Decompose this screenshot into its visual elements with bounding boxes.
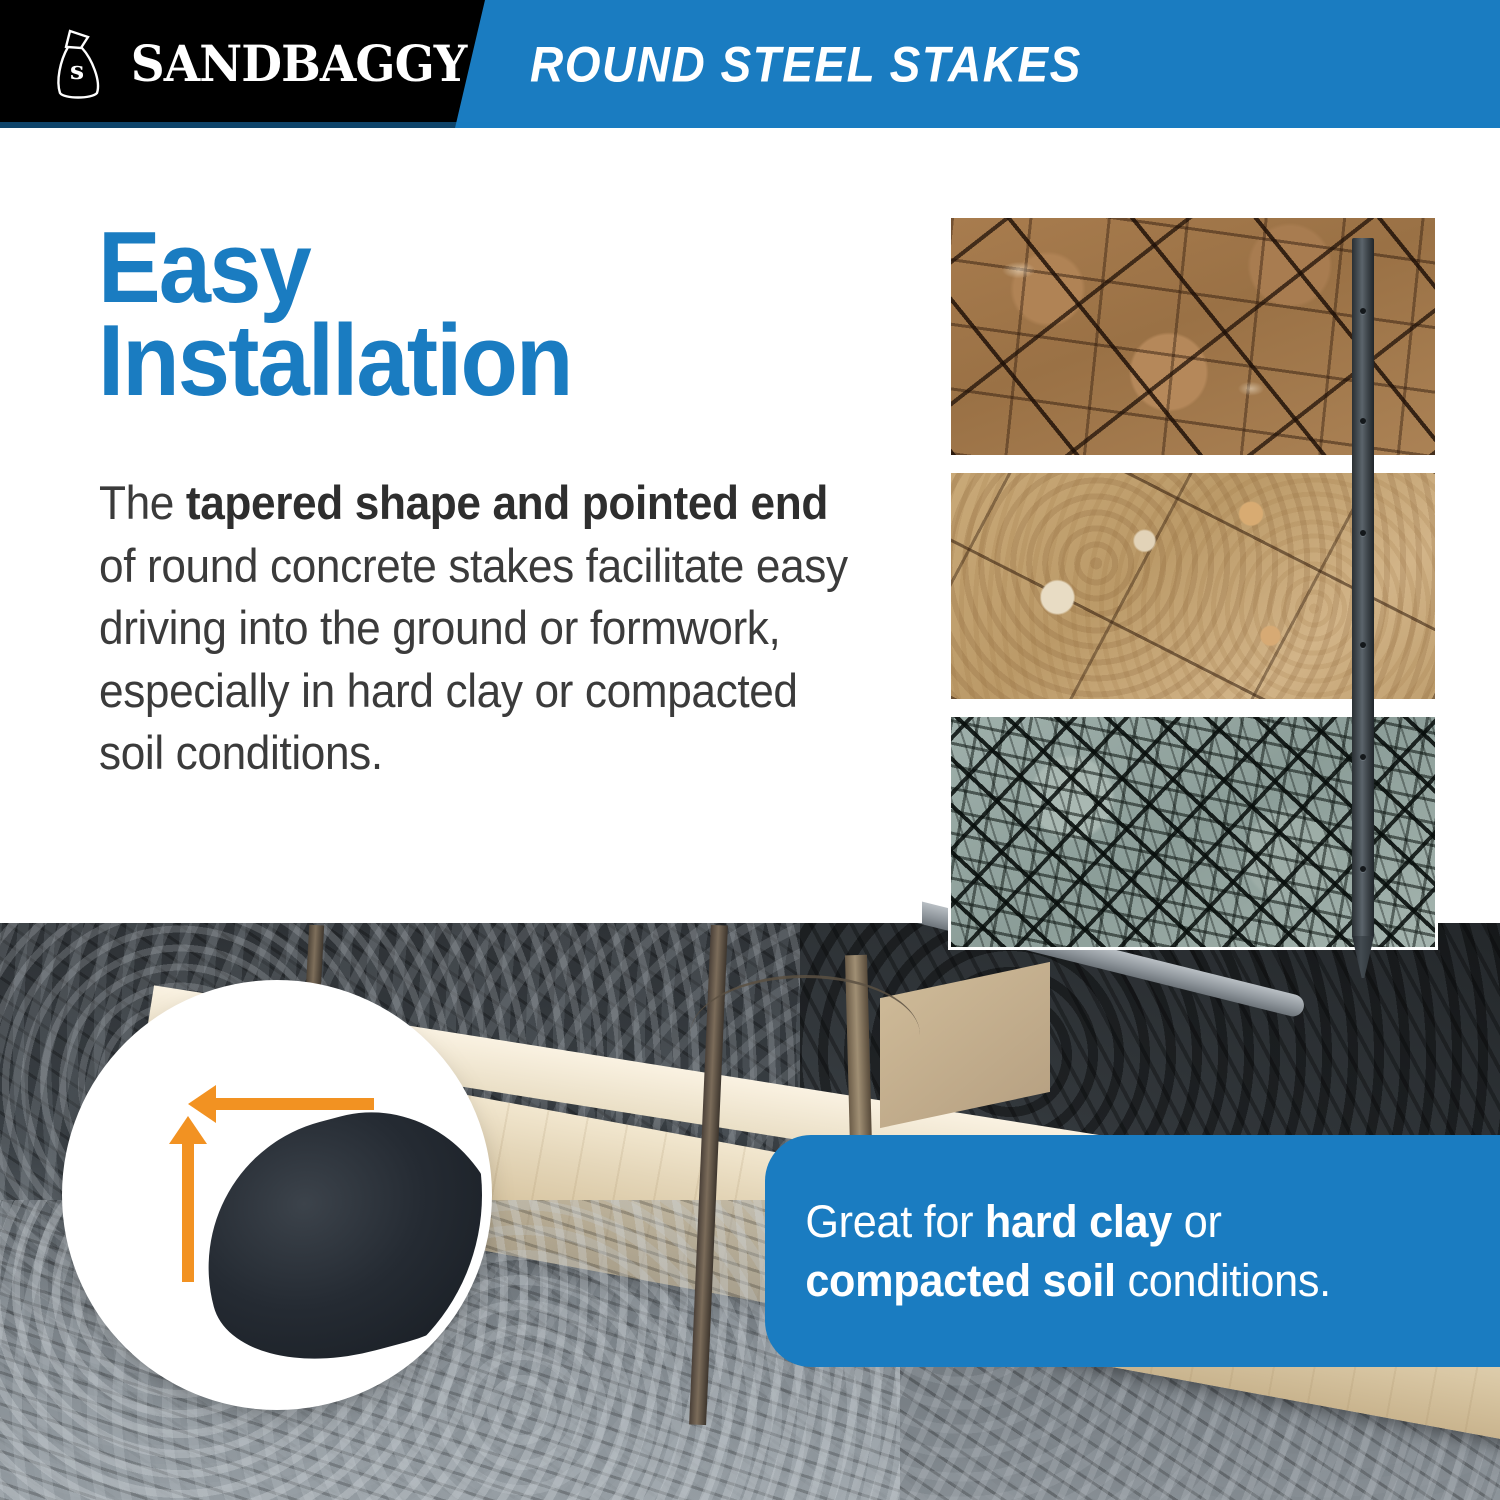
sandbag-icon: s bbox=[52, 27, 110, 101]
body-paragraph: The tapered shape and pointed end of rou… bbox=[99, 472, 862, 785]
page-title: Easy Installation bbox=[98, 222, 823, 408]
round-steel-stake bbox=[1352, 238, 1374, 938]
headline-line-2: Installation bbox=[98, 315, 823, 408]
infographic-canvas: s SANDBAGGY ROUND STEEL STAKES Easy Inst… bbox=[0, 0, 1500, 1500]
header-bar: s SANDBAGGY ROUND STEEL STAKES bbox=[0, 0, 1500, 128]
arrow-left-icon bbox=[214, 1098, 374, 1110]
brand-logo[interactable]: s SANDBAGGY bbox=[52, 26, 477, 102]
stake-hole bbox=[1360, 308, 1366, 314]
stake-hole bbox=[1360, 754, 1366, 760]
svg-text:s: s bbox=[70, 56, 84, 85]
brand-logo-text: SANDBAGGY bbox=[131, 39, 467, 89]
callout-text: Great for hard clay or compacted soil co… bbox=[765, 1192, 1471, 1311]
arrow-up-icon bbox=[182, 1142, 194, 1282]
stake-hole bbox=[1360, 866, 1366, 872]
stake-hole bbox=[1360, 418, 1366, 424]
callout-banner: Great for hard clay or compacted soil co… bbox=[765, 1135, 1500, 1367]
stake-hole bbox=[1360, 530, 1366, 536]
tapered-point-closeup-inset bbox=[72, 990, 482, 1400]
stake-hole bbox=[1360, 642, 1366, 648]
header-title: ROUND STEEL STAKES bbox=[530, 0, 1082, 128]
